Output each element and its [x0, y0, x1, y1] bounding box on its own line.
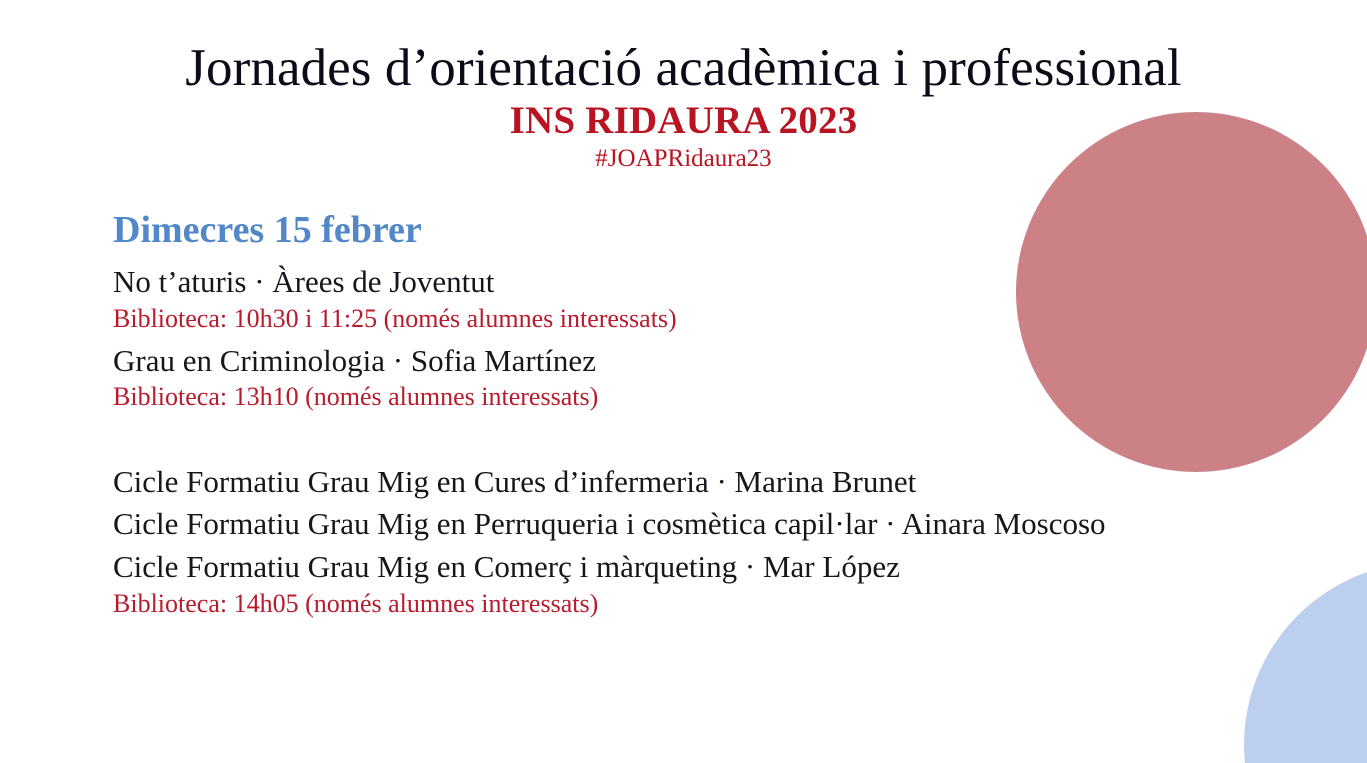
session-group: Cicle Formatiu Grau Mig en Cures d’infer…: [113, 462, 1263, 587]
hashtag-label: #JOAPRidaura23: [0, 142, 1367, 172]
session-title: Cicle Formatiu Grau Mig en Comerç i màrq…: [113, 547, 1263, 587]
slide-header: Jornades d’orientació acadèmica i profes…: [0, 0, 1367, 172]
page-title: Jornades d’orientació acadèmica i profes…: [0, 0, 1367, 95]
schedule-block: No t’aturis · Àrees de Joventut Bibliote…: [113, 262, 1263, 336]
session-group: Grau en Criminologia · Sofia Martínez: [113, 341, 1263, 381]
subtitle-school-year: INS RIDAURA 2023: [0, 95, 1367, 142]
schedule-block: Cicle Formatiu Grau Mig en Cures d’infer…: [113, 462, 1263, 621]
session-location: Biblioteca: 13h10 (només alumnes interes…: [113, 380, 1263, 414]
presentation-slide: Jornades d’orientació acadèmica i profes…: [0, 0, 1367, 763]
session-title: Cicle Formatiu Grau Mig en Cures d’infer…: [113, 462, 1263, 502]
session-location: Biblioteca: 10h30 i 11:25 (només alumnes…: [113, 302, 1263, 336]
session-title: No t’aturis · Àrees de Joventut: [113, 262, 1263, 302]
session-location: Biblioteca: 14h05 (només alumnes interes…: [113, 587, 1263, 621]
session-group: No t’aturis · Àrees de Joventut: [113, 262, 1263, 302]
session-title: Cicle Formatiu Grau Mig en Perruqueria i…: [113, 504, 1263, 544]
schedule-block: Grau en Criminologia · Sofia Martínez Bi…: [113, 341, 1263, 415]
day-heading: Dimecres 15 febrer: [113, 208, 1263, 253]
block-spacer: [113, 416, 1263, 462]
schedule-section: Dimecres 15 febrer No t’aturis · Àrees d…: [113, 208, 1263, 622]
session-title: Grau en Criminologia · Sofia Martínez: [113, 341, 1263, 381]
